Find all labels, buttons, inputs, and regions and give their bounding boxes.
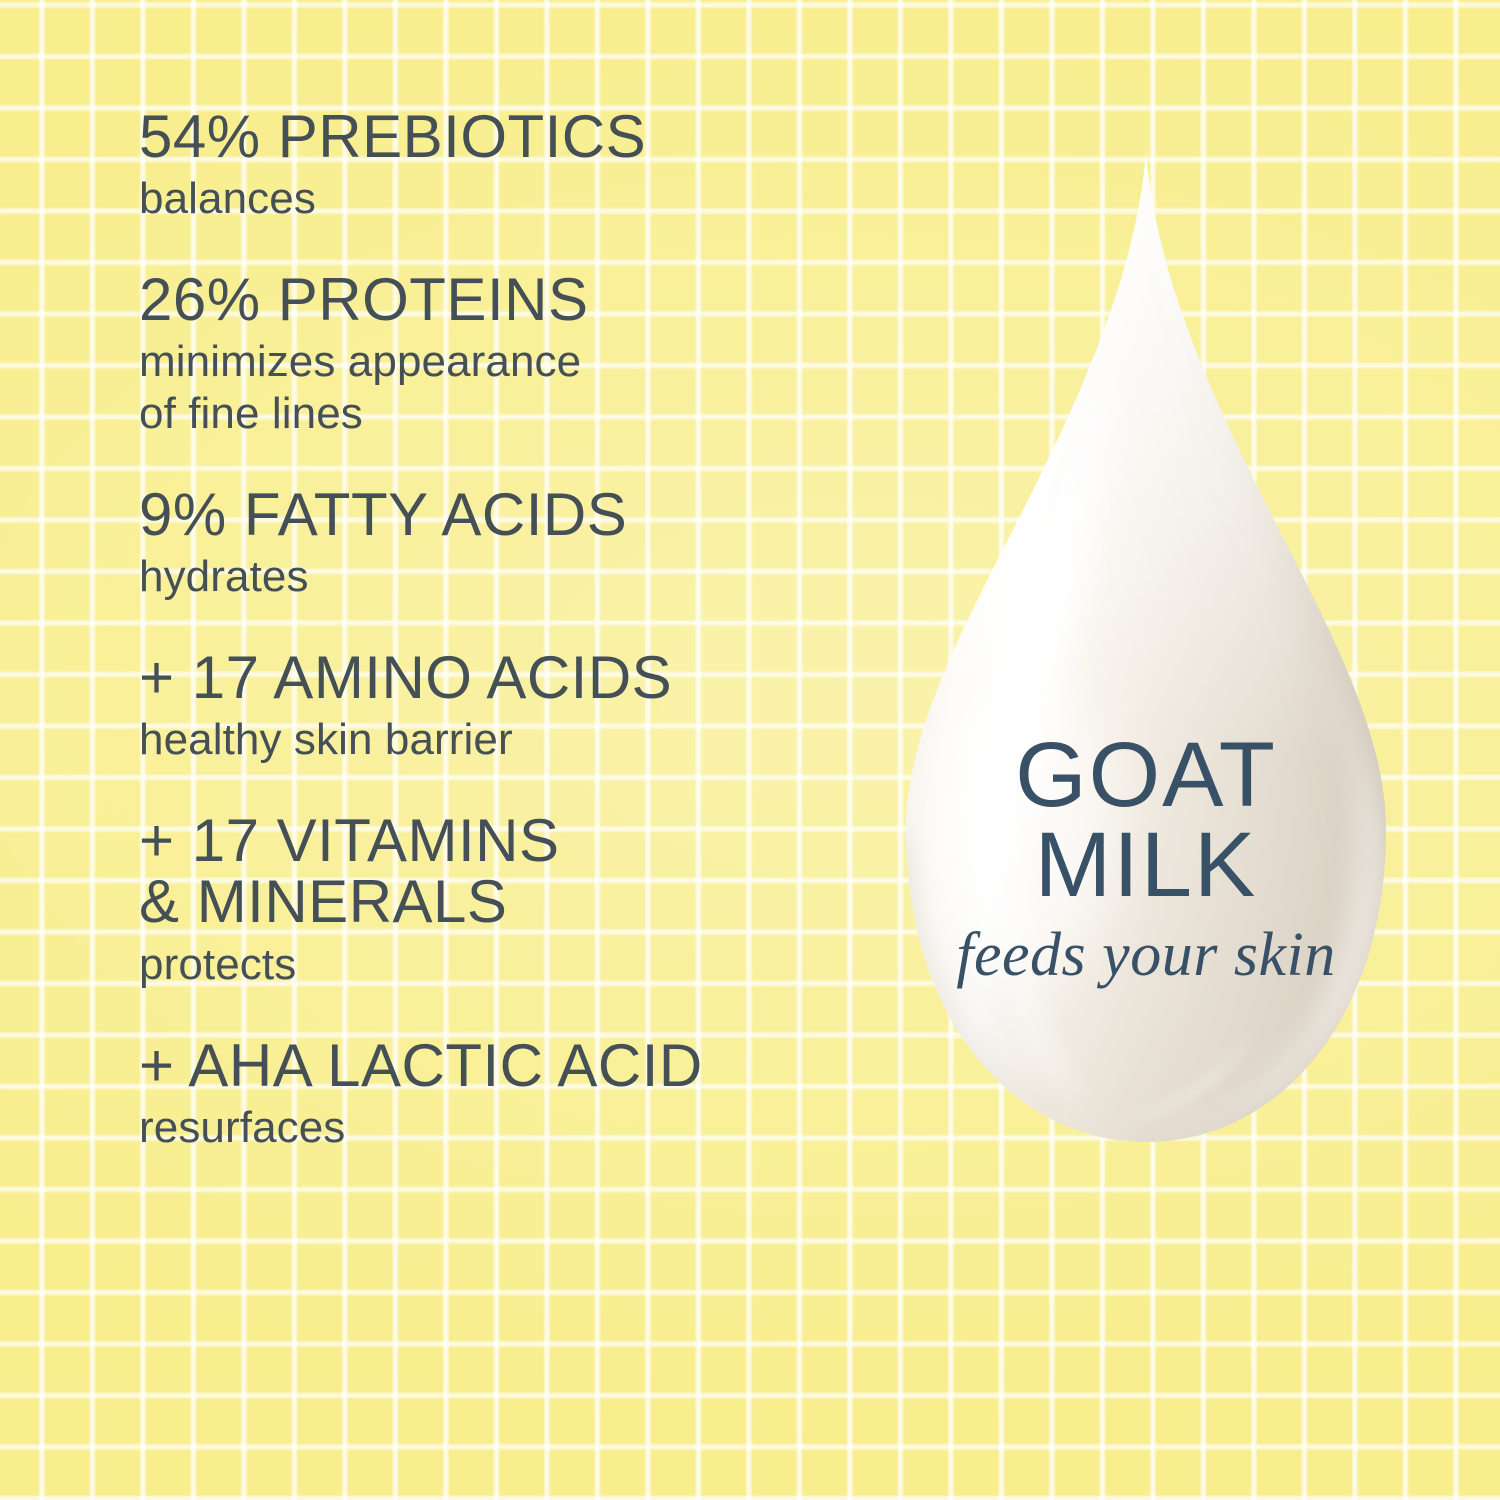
benefit-headline: 54% PREBIOTICS <box>139 106 839 167</box>
benefit-item-prebiotics: 54% PREBIOTICS balances <box>139 106 839 225</box>
benefit-item-fatty-acids: 9% FATTY ACIDS hydrates <box>139 484 839 603</box>
droplet-bulb-highlight <box>930 680 1114 980</box>
benefit-headline: 9% FATTY ACIDS <box>139 484 839 545</box>
benefit-sublabel: healthy skin barrier <box>139 714 839 766</box>
milk-droplet-icon <box>826 140 1466 1210</box>
benefit-sublabel: hydrates <box>139 551 839 603</box>
benefit-headline: + 17 AMINO ACIDS <box>139 647 839 708</box>
benefit-sublabel: minimizes appearance of fine lines <box>139 336 839 440</box>
milk-droplet-graphic: GOAT MILK feeds your skin <box>826 140 1466 1210</box>
benefit-sublabel: balances <box>139 173 839 225</box>
benefit-headline: 26% PROTEINS <box>139 269 839 330</box>
benefit-sublabel: protects <box>139 939 839 991</box>
product-benefits-infographic: 54% PREBIOTICS balances 26% PROTEINS min… <box>0 0 1500 1500</box>
benefit-item-vitamins-minerals: + 17 VITAMINS & MINERALS protects <box>139 810 839 990</box>
benefit-item-aha-lactic-acid: + AHA LACTIC ACID resurfaces <box>139 1035 839 1154</box>
benefits-list: 54% PREBIOTICS balances 26% PROTEINS min… <box>139 106 839 1154</box>
benefit-headline: + 17 VITAMINS & MINERALS <box>139 810 839 932</box>
benefit-item-amino-acids: + 17 AMINO ACIDS healthy skin barrier <box>139 647 839 766</box>
droplet-vertical-shading <box>826 140 1466 1210</box>
benefit-headline: + AHA LACTIC ACID <box>139 1035 839 1096</box>
benefit-sublabel: resurfaces <box>139 1102 839 1154</box>
benefit-item-proteins: 26% PROTEINS minimizes appearance of fin… <box>139 269 839 440</box>
